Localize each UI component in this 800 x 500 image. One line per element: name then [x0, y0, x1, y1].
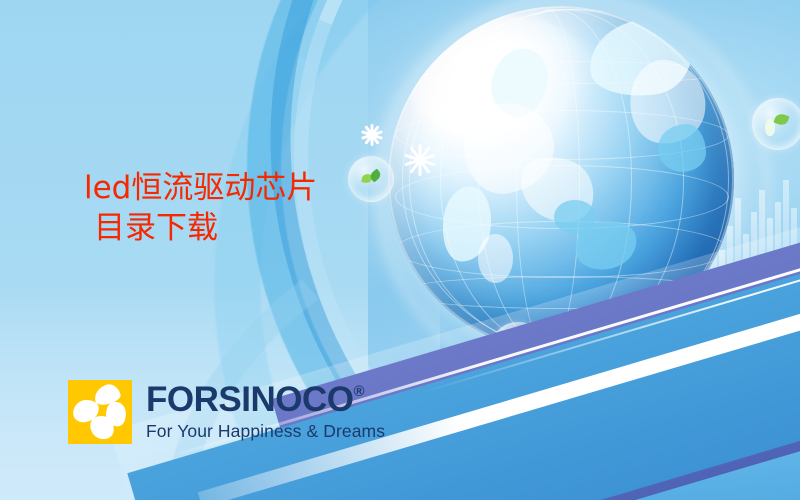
brand-tagline: For Your Happiness & Dreams — [146, 421, 385, 442]
bubble-leaf-e — [774, 112, 790, 127]
brand-name: FORSINOCO® — [146, 382, 385, 417]
headline-line-2: 目录下载 — [94, 208, 414, 248]
logo-mark-pinwheel-icon — [68, 380, 132, 444]
brand-name-text: FORSINOCO — [146, 382, 353, 417]
headline-line-1: led恒流驱动芯片 — [84, 170, 317, 206]
promo-banner: led恒流驱动芯片 目录下载 FORSINOCO® For Your Happi… — [0, 0, 800, 500]
globe-landmass — [658, 124, 706, 172]
logo-wordmark: FORSINOCO® For Your Happiness & Dreams — [146, 382, 385, 442]
registered-trademark-icon: ® — [353, 384, 364, 399]
bubble-icon-3 — [752, 98, 800, 150]
sparkle-flower-small-icon — [361, 124, 383, 146]
company-logo[interactable]: FORSINOCO® For Your Happiness & Dreams — [68, 380, 385, 444]
globe-landmass — [478, 234, 513, 282]
promo-headline: led恒流驱动芯片 目录下载 — [84, 168, 414, 249]
